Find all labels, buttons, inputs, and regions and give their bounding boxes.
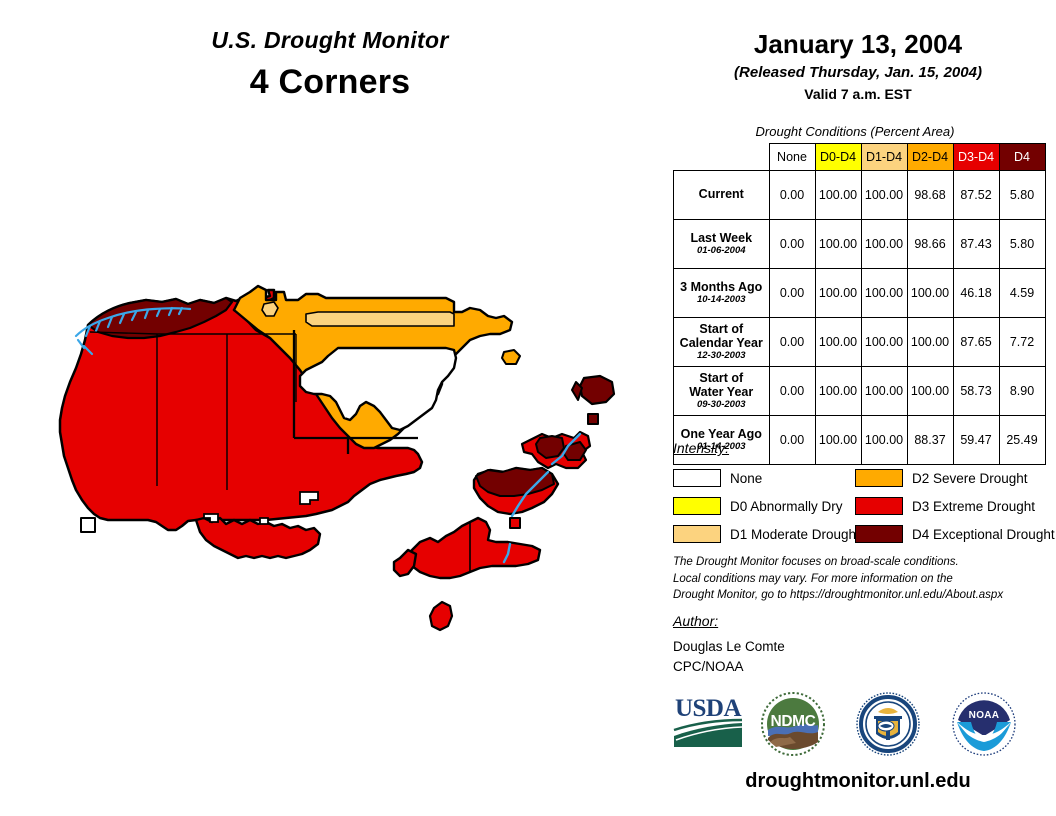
column-header-none: None	[769, 144, 815, 171]
cell-d0-d4: 100.00	[815, 220, 861, 269]
cell-d3-d4: 59.47	[953, 416, 999, 465]
cell-d2-d4: 98.68	[907, 171, 953, 220]
swatch-d3-icon	[855, 497, 903, 515]
legend-column-right: D2 Severe Drought D3 Extreme Drought D4 …	[855, 466, 1055, 550]
map-title-block: U.S. Drought Monitor 4 Corners	[0, 28, 660, 104]
legend-column-left: None D0 Abnormally Dry D1 Moderate Droug…	[673, 466, 860, 550]
cell-none: 0.00	[769, 318, 815, 367]
report-date: January 13, 2004	[660, 30, 1056, 60]
cell-d4: 25.49	[999, 416, 1045, 465]
row-label: Current	[674, 171, 770, 220]
drought-monitor-page: U.S. Drought Monitor 4 Corners January 1…	[0, 0, 1056, 816]
row-label-text: Last Week	[690, 231, 752, 245]
author-name: Douglas Le Comte	[673, 637, 785, 657]
svg-text:NDMC: NDMC	[771, 713, 816, 730]
cell-none: 0.00	[769, 367, 815, 416]
cell-d4: 5.80	[999, 171, 1045, 220]
note-line-2: Local conditions may vary. For more info…	[673, 571, 1053, 588]
cell-d4: 4.59	[999, 269, 1045, 318]
swatch-d2-icon	[855, 469, 903, 487]
table-row: Last Week 01-06-2004 0.00 100.00 100.00 …	[674, 220, 1046, 269]
table-row: Start ofCalendar Year 12-30-2003 0.00 10…	[674, 318, 1046, 367]
region-d1-north-nub	[262, 302, 278, 316]
cell-d0-d4: 100.00	[815, 318, 861, 367]
author-block: Douglas Le Comte CPC/NOAA	[673, 637, 785, 676]
cell-d4: 8.90	[999, 367, 1045, 416]
cell-d1-d4: 100.00	[861, 220, 907, 269]
column-header-d1-d4: D1-D4	[861, 144, 907, 171]
row-label-date: 09-30-2003	[678, 400, 765, 411]
disclaimer-note: The Drought Monitor focuses on broad-sca…	[673, 554, 1053, 604]
column-header-d3-d4: D3-D4	[953, 144, 999, 171]
cell-none: 0.00	[769, 416, 815, 465]
map-traced	[18, 278, 658, 648]
legend-label-d0: D0 Abnormally Dry	[730, 499, 843, 514]
legend-label-d4: D4 Exceptional Drought	[912, 527, 1055, 542]
cell-none: 0.00	[769, 171, 815, 220]
column-header-d4: D4	[999, 144, 1045, 171]
cell-d1-d4: 100.00	[861, 318, 907, 367]
legend-label-d3: D3 Extreme Drought	[912, 499, 1035, 514]
date-block: January 13, 2004 (Released Thursday, Jan…	[660, 30, 1056, 102]
cell-d4: 5.80	[999, 220, 1045, 269]
legend-item-d4: D4 Exceptional Drought	[855, 522, 1055, 546]
cell-d2-d4: 100.00	[907, 318, 953, 367]
report-valid-time: Valid 7 a.m. EST	[660, 86, 1056, 102]
cell-d3-d4: 87.65	[953, 318, 999, 367]
note-line-1: The Drought Monitor focuses on broad-sca…	[673, 554, 1053, 571]
legend-item-d3: D3 Extreme Drought	[855, 494, 1055, 518]
row-label-date: 01-06-2004	[678, 246, 765, 257]
usda-logo-icon: USDA	[670, 690, 746, 752]
row-label-date: 12-30-2003	[678, 351, 765, 362]
row-label-text: Start ofCalendar Year	[680, 322, 763, 350]
cell-d2-d4: 98.66	[907, 220, 953, 269]
column-header-d2-d4: D2-D4	[907, 144, 953, 171]
cell-d3-d4: 87.43	[953, 220, 999, 269]
table-row: 3 Months Ago 10-14-2003 0.00 100.00 100.…	[674, 269, 1046, 318]
site-url: droughtmonitor.unl.edu	[660, 770, 1056, 793]
island-d4-northeast-1	[580, 376, 614, 404]
cell-d1-d4: 100.00	[861, 269, 907, 318]
cell-d1-d4: 100.00	[861, 416, 907, 465]
table-caption: Drought Conditions (Percent Area)	[672, 124, 1038, 139]
cell-d0-d4: 100.00	[815, 171, 861, 220]
table-corner-cell	[674, 144, 770, 171]
legend-item-d2: D2 Severe Drought	[855, 466, 1055, 490]
report-released: (Released Thursday, Jan. 15, 2004)	[660, 64, 1056, 81]
legend-item-d1: D1 Moderate Drought	[673, 522, 860, 546]
svg-text:NOAA: NOAA	[969, 710, 1000, 721]
svg-text:USDA: USDA	[675, 695, 742, 722]
drought-map	[18, 278, 658, 648]
row-label: 3 Months Ago 10-14-2003	[674, 269, 770, 318]
region-d1-north-strip	[306, 312, 454, 326]
swatch-none-icon	[673, 469, 721, 487]
cell-none: 0.00	[769, 220, 815, 269]
table-row: Start ofWater Year 09-30-2003 0.00 100.0…	[674, 367, 1046, 416]
author-heading: Author:	[673, 613, 718, 629]
row-label: Last Week 01-06-2004	[674, 220, 770, 269]
cell-d3-d4: 46.18	[953, 269, 999, 318]
swatch-d0-icon	[673, 497, 721, 515]
legend-item-d0: D0 Abnormally Dry	[673, 494, 860, 518]
row-label: Start ofWater Year 09-30-2003	[674, 367, 770, 416]
cell-d0-d4: 100.00	[815, 367, 861, 416]
legend-label-none: None	[730, 471, 762, 486]
legend-label-d1: D1 Moderate Drought	[730, 527, 860, 542]
row-label-date: 10-14-2003	[678, 295, 765, 306]
row-label-text: Start ofWater Year	[689, 371, 753, 399]
island-cluster-d4-middle	[536, 436, 564, 458]
note-line-3: Drought Monitor, go to https://droughtmo…	[673, 587, 1053, 604]
row-label-text: Current	[699, 187, 744, 201]
cell-d0-d4: 100.00	[815, 269, 861, 318]
notch-none-southwest	[81, 518, 95, 532]
cell-d1-d4: 100.00	[861, 171, 907, 220]
table-row: One Year Ago 01-14-2003 0.00 100.00 100.…	[674, 416, 1046, 465]
legend-label-d2: D2 Severe Drought	[912, 471, 1028, 486]
cell-d1-d4: 100.00	[861, 367, 907, 416]
row-label-text: One Year Ago	[681, 427, 762, 441]
cell-d0-d4: 100.00	[815, 416, 861, 465]
cell-d2-d4: 100.00	[907, 269, 953, 318]
cell-none: 0.00	[769, 269, 815, 318]
region-d2-east-nub	[502, 350, 520, 364]
table-header-row: None D0-D4 D1-D4 D2-D4 D3-D4 D4	[674, 144, 1046, 171]
island-d3-tiny-below	[510, 518, 520, 528]
cell-d3-d4: 58.73	[953, 367, 999, 416]
table-row: Current 0.00 100.00 100.00 98.68 87.52 5…	[674, 171, 1046, 220]
legend-item-none: None	[673, 466, 860, 490]
author-affiliation: CPC/NOAA	[673, 657, 785, 677]
noaa-logo-icon: NOAA	[948, 690, 1020, 760]
cell-d4: 7.72	[999, 318, 1045, 367]
row-label: Start ofCalendar Year 12-30-2003	[674, 318, 770, 367]
cell-d2-d4: 100.00	[907, 367, 953, 416]
swatch-d1-icon	[673, 525, 721, 543]
cell-d3-d4: 87.52	[953, 171, 999, 220]
page-title-region: 4 Corners	[0, 61, 660, 104]
column-header-d0-d4: D0-D4	[815, 144, 861, 171]
row-label-text: 3 Months Ago	[680, 280, 762, 294]
island-d4-small-dot	[588, 414, 598, 424]
ndmc-logo-icon: NDMC	[756, 690, 830, 760]
cell-d2-d4: 88.37	[907, 416, 953, 465]
swatch-d4-icon	[855, 525, 903, 543]
drought-conditions-table: None D0-D4 D1-D4 D2-D4 D3-D4 D4 Current …	[673, 143, 1046, 465]
logo-row: USDA NDMC	[660, 690, 1056, 762]
map-svg	[18, 278, 658, 648]
commerce-seal-logo-icon	[852, 690, 924, 760]
island-cluster-d4-middle-2	[564, 442, 586, 460]
legend-heading: Intensity:	[673, 440, 729, 456]
table-body: Current 0.00 100.00 100.00 98.68 87.52 5…	[674, 171, 1046, 465]
page-title-program: U.S. Drought Monitor	[0, 28, 660, 53]
